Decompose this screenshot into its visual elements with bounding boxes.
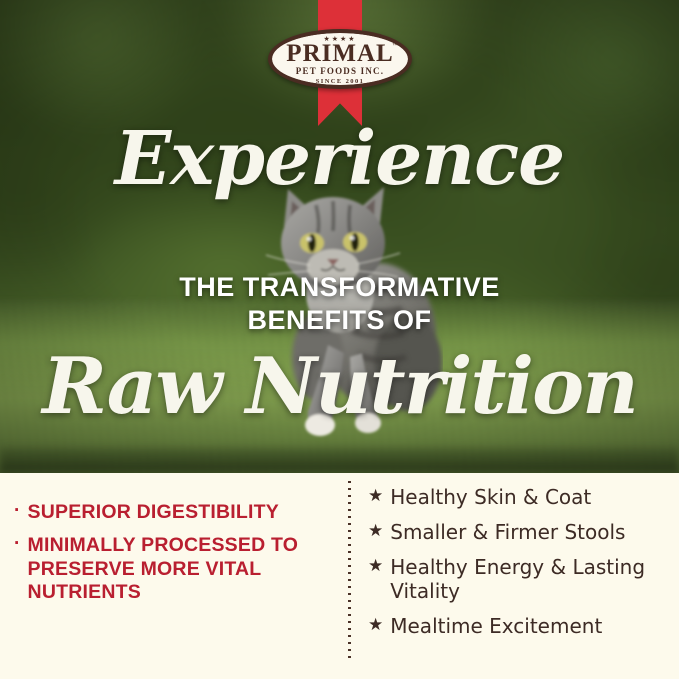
primal-raw-nutrition-ad: ★★★★ PRIMAL ™ PET FOODS INC. SINCE 2001 … bbox=[0, 0, 679, 679]
list-item-label: Healthy Energy & Lasting Vitality bbox=[390, 555, 668, 603]
logo-trademark: ™ bbox=[392, 43, 398, 49]
benefits-right-column: ★ Healthy Skin & Coat ★ Smaller & Firmer… bbox=[368, 485, 668, 649]
benefits-left-column: · SUPERIOR DIGESTIBILITY · MINIMALLY PRO… bbox=[14, 501, 336, 614]
logo-subtitle: PET FOODS INC. bbox=[268, 67, 412, 76]
star-icon: ★ bbox=[368, 485, 383, 508]
list-item-label: Smaller & Firmer Stools bbox=[390, 520, 625, 544]
list-item-label: Healthy Skin & Coat bbox=[390, 485, 591, 509]
list-item: ★ Healthy Skin & Coat bbox=[368, 485, 668, 509]
benefits-panel: · SUPERIOR DIGESTIBILITY · MINIMALLY PRO… bbox=[0, 473, 679, 679]
headline-script-experience: Experience bbox=[0, 122, 679, 196]
headline-script-raw-nutrition: Raw Nutrition bbox=[0, 348, 679, 426]
star-icon: ★ bbox=[368, 555, 383, 578]
list-item-label: MINIMALLY PROCESSED TO PRESERVE MORE VIT… bbox=[28, 534, 336, 605]
headline-line-benefits-of: BENEFITS OF bbox=[0, 305, 679, 335]
logo-brand-name: PRIMAL bbox=[268, 41, 412, 66]
bullet-dot-icon: · bbox=[14, 534, 21, 555]
list-item: ★ Mealtime Excitement bbox=[368, 614, 668, 638]
bullet-dot-icon: · bbox=[14, 501, 21, 522]
list-item-label: Mealtime Excitement bbox=[390, 614, 602, 638]
headline-line-transformative: THE TRANSFORMATIVE bbox=[0, 272, 679, 302]
list-item: · MINIMALLY PROCESSED TO PRESERVE MORE V… bbox=[14, 534, 336, 605]
star-icon: ★ bbox=[368, 520, 383, 543]
list-item: · SUPERIOR DIGESTIBILITY bbox=[14, 501, 336, 525]
hero-photo: ★★★★ PRIMAL ™ PET FOODS INC. SINCE 2001 … bbox=[0, 0, 679, 473]
list-item: ★ Healthy Energy & Lasting Vitality bbox=[368, 555, 668, 603]
dotted-column-divider bbox=[348, 481, 351, 658]
primal-logo[interactable]: ★★★★ PRIMAL ™ PET FOODS INC. SINCE 2001 bbox=[268, 29, 412, 89]
list-item-label: SUPERIOR DIGESTIBILITY bbox=[28, 501, 279, 525]
photo-bottom-shadow bbox=[0, 447, 679, 473]
list-item: ★ Smaller & Firmer Stools bbox=[368, 520, 668, 544]
star-icon: ★ bbox=[368, 614, 383, 637]
logo-since-text: SINCE 2001 bbox=[268, 79, 412, 86]
